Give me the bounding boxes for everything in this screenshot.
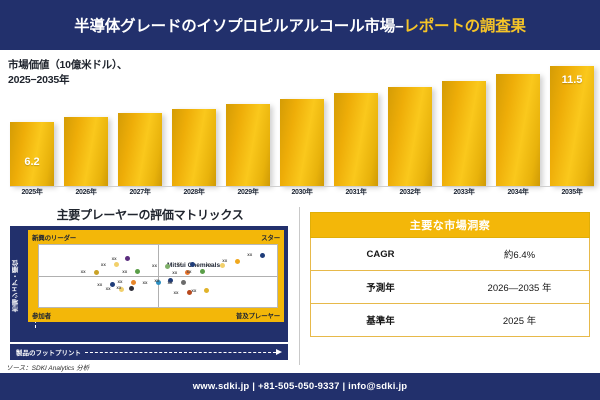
page-title-accent: レポートの調査果 xyxy=(403,18,525,35)
market-value-bar-chart: 市場価値（10億米ドル）、 2025−2035年 6.211.5 2025年20… xyxy=(0,50,600,205)
quadrant-label-pervasive: 普及プレーヤー xyxy=(236,310,280,320)
matrix-data-point-label: xx xyxy=(222,258,227,263)
matrix-data-point xyxy=(110,282,115,287)
matrix-data-point-label: xx xyxy=(247,252,252,257)
key-insights-rows: CAGR約6.4%予測年2026—2035 年基準年2025 年 xyxy=(310,238,590,337)
matrix-data-point xyxy=(135,269,140,274)
matrix-scatter-plot: Mitsui Chemicals xxxxxxxxxxxxxxxxxxxxxxx… xyxy=(38,244,278,308)
x-axis-tick: 2025年 xyxy=(10,187,54,201)
page-header: 半導体グレードのイソプロピルアルコール市場–レポートの調査果 xyxy=(0,0,600,50)
matrix-data-point xyxy=(190,262,195,267)
matrix-data-point-label: xx xyxy=(154,278,159,283)
matrix-data-point-label: xx xyxy=(122,269,127,274)
key-insight-key: 予測年 xyxy=(311,280,450,294)
matrix-data-point-label: xx xyxy=(112,256,117,261)
bar-column xyxy=(388,55,432,186)
bar-column xyxy=(334,55,378,186)
x-axis-tick: 2034年 xyxy=(496,187,540,201)
matrix-data-point-label: xx xyxy=(191,288,196,293)
key-insight-row: CAGR約6.4% xyxy=(310,238,590,271)
quadrant-label-emerging-leaders: 新興のリーダー xyxy=(32,232,76,242)
bar xyxy=(388,87,432,186)
key-insights-header-label: 主要な市場洞察 xyxy=(410,217,491,233)
matrix-data-point-label: xx xyxy=(187,269,192,274)
matrix-data-point-label: xx xyxy=(106,286,111,291)
matrix-data-point-label: xx xyxy=(172,270,177,275)
x-axis-tick: 2029年 xyxy=(226,187,270,201)
x-axis-tick: 2027年 xyxy=(118,187,162,201)
bar xyxy=(118,113,162,186)
bar xyxy=(496,74,540,186)
key-insight-key: CAGR xyxy=(311,249,450,260)
matrix-data-point-label: xx xyxy=(177,261,182,266)
matrix-x-axis-arrow-icon xyxy=(85,349,282,355)
bar xyxy=(64,117,108,186)
matrix-data-point-label: xx xyxy=(101,262,106,267)
key-insight-value: 2026—2035 年 xyxy=(450,280,589,294)
x-axis-tick: 2031年 xyxy=(334,187,378,201)
matrix-data-point xyxy=(235,259,240,264)
source-note: ソース：SDKI Analytics 分析 xyxy=(6,362,89,372)
x-axis-tick: 2035年 xyxy=(550,187,594,201)
x-axis-tick: 2033年 xyxy=(442,187,486,201)
key-insights-table: 主要な市場洞察 CAGR約6.4%予測年2026—2035 年基準年2025 年 xyxy=(310,212,590,360)
matrix-data-point-label: xx xyxy=(143,280,148,285)
matrix-y-axis-text: 市場シェア・順位 xyxy=(12,260,22,312)
x-axis-tick: 2032年 xyxy=(388,187,432,201)
key-insights-header: 主要な市場洞察 xyxy=(310,212,590,238)
key-insight-key: 基準年 xyxy=(311,313,450,327)
matrix-data-point xyxy=(125,256,130,261)
key-insight-value: 約6.4% xyxy=(450,247,589,261)
bar xyxy=(172,109,216,187)
matrix-data-point-label: xx xyxy=(152,263,157,268)
matrix-data-point xyxy=(200,269,205,274)
bar-column xyxy=(280,55,324,186)
quadrant-label-participants: 参加者 xyxy=(32,310,51,320)
matrix-x-axis-label: 製品のフットプリント xyxy=(16,347,81,357)
matrix-plot-background: 新興のリーダー スター 参加者 普及プレーヤー Mitsui Chemicals… xyxy=(28,230,284,322)
matrix-data-point-label: xx xyxy=(118,279,123,284)
page-title: 半導体グレードのイソプロピルアルコール市場–レポートの調査果 xyxy=(74,14,526,36)
matrix-data-point-label: xx xyxy=(97,282,102,287)
bar-column xyxy=(118,55,162,186)
matrix-frame: 市場シェア・順位 新興のリーダー スター 参加者 普及プレーヤー Mitsui … xyxy=(10,226,288,342)
bar-column xyxy=(496,55,540,186)
bar-column: 6.2 xyxy=(10,55,54,186)
x-axis-tick: 2026年 xyxy=(64,187,108,201)
bar-plot-area: 6.211.5 xyxy=(10,55,594,186)
bar-column xyxy=(64,55,108,186)
competitive-matrix-panel: 主要プレーヤーの評価マトリックス 市場シェア・順位 新興のリーダー スター 参加… xyxy=(4,205,296,373)
matrix-data-point xyxy=(204,288,209,293)
matrix-data-point-label: xx xyxy=(168,280,173,285)
x-axis-tick: 2030年 xyxy=(280,187,324,201)
footer-contact-text: www.sdki.jp | +81-505-050-9337 | info@sd… xyxy=(193,381,408,392)
page-title-main: 半導体グレードのイソプロピルアルコール市場 xyxy=(74,18,395,35)
bar: 11.5 xyxy=(550,66,594,186)
matrix-data-point-label: xx xyxy=(173,290,178,295)
matrix-y-axis-label: 市場シェア・順位 xyxy=(9,234,25,338)
matrix-data-point xyxy=(220,263,225,268)
matrix-data-point-label: xx xyxy=(116,285,121,290)
key-insight-value: 2025 年 xyxy=(450,313,589,327)
bar-column xyxy=(442,55,486,186)
matrix-data-point-label: xx xyxy=(81,269,86,274)
x-axis-tick: 2028年 xyxy=(172,187,216,201)
matrix-data-point xyxy=(181,280,186,285)
bar-value-label: 11.5 xyxy=(562,74,583,86)
x-axis-tick-labels: 2025年2026年2027年2028年2029年2030年2031年2032年… xyxy=(10,187,594,201)
matrix-data-point xyxy=(131,280,136,285)
key-insight-row: 基準年2025 年 xyxy=(310,304,590,337)
bar xyxy=(334,93,378,186)
quadrant-horizontal-divider xyxy=(39,276,277,277)
page-footer: www.sdki.jp | +81-505-050-9337 | info@sd… xyxy=(0,373,600,400)
matrix-data-point xyxy=(260,253,265,258)
arrow-right-head xyxy=(276,349,282,355)
bar-value-label: 6.2 xyxy=(24,156,39,168)
section-divider xyxy=(299,207,300,365)
matrix-data-point xyxy=(114,262,119,267)
matrix-data-point-label: xx xyxy=(207,262,212,267)
report-infographic: 半導体グレードのイソプロピルアルコール市場–レポートの調査果 市場価値（10億米… xyxy=(0,0,600,400)
key-insight-row: 予測年2026—2035 年 xyxy=(310,271,590,304)
bar xyxy=(226,104,270,186)
bottom-section: 主要プレーヤーの評価マトリックス 市場シェア・順位 新興のリーダー スター 参加… xyxy=(0,205,600,373)
bar xyxy=(442,81,486,186)
matrix-title: 主要プレーヤーの評価マトリックス xyxy=(4,205,296,223)
bar-column: 11.5 xyxy=(550,55,594,186)
bar: 6.2 xyxy=(10,122,54,187)
bar xyxy=(280,99,324,186)
matrix-data-point xyxy=(94,270,99,275)
quadrant-label-stars: スター xyxy=(261,232,280,242)
matrix-data-point xyxy=(129,286,134,291)
matrix-data-point xyxy=(165,264,170,269)
arrow-right-stem xyxy=(85,352,276,353)
bar-column xyxy=(226,55,270,186)
matrix-x-axis: 製品のフットプリント xyxy=(10,344,288,360)
bar-column xyxy=(172,55,216,186)
